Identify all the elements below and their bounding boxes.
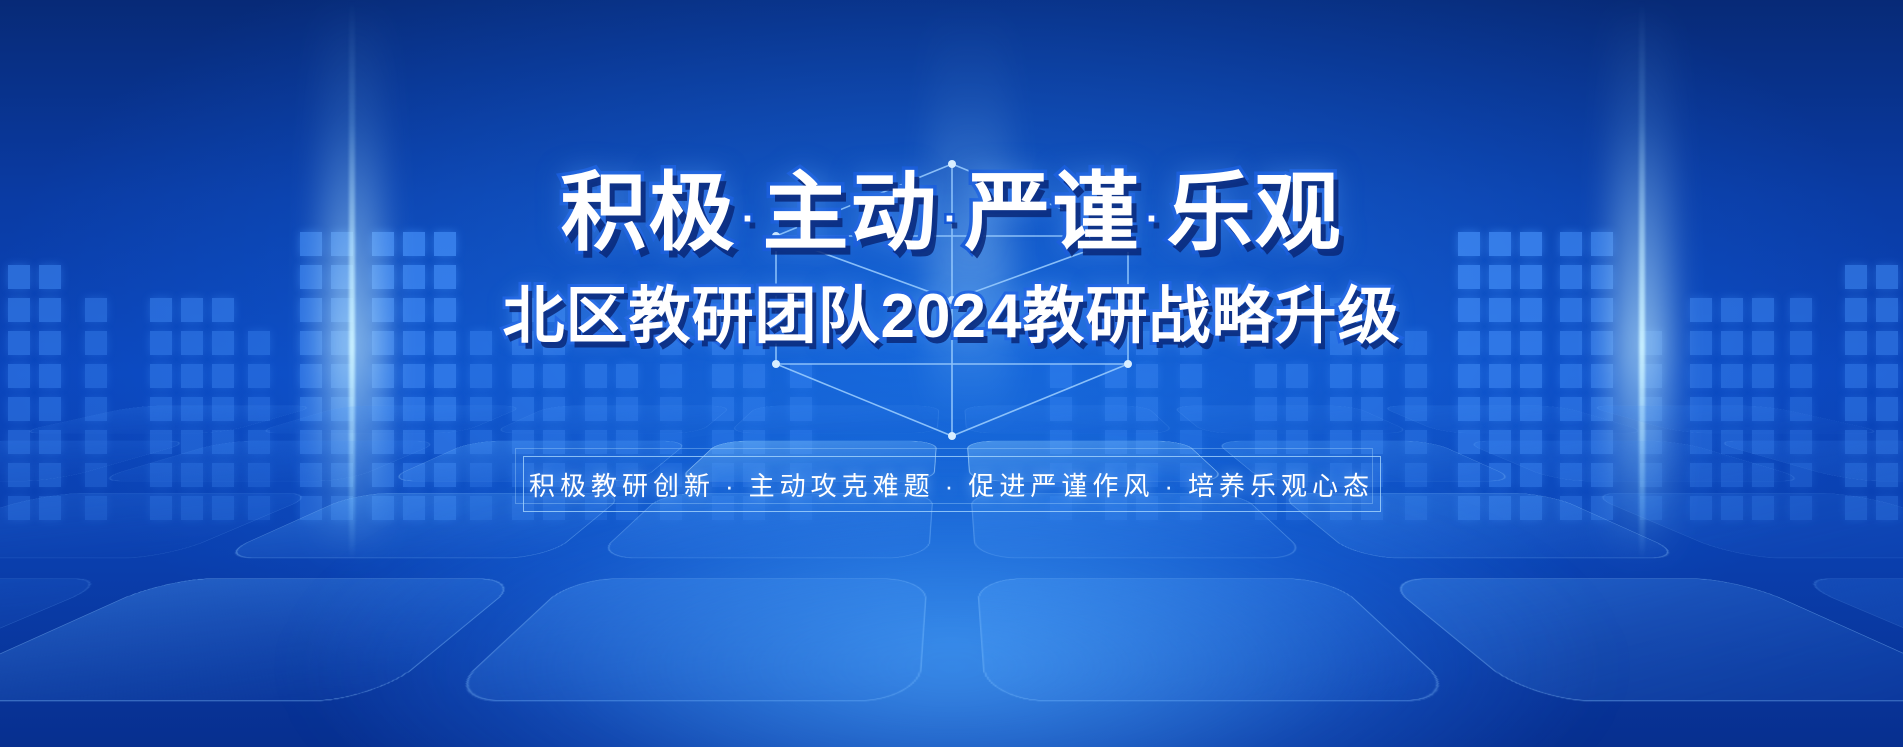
- title-word-2: 主动: [763, 165, 939, 261]
- floor-tile: [1461, 441, 1815, 481]
- title-separator-2: ·: [939, 198, 965, 240]
- event-banner: 积极·主动·严谨·乐观 北区教研团队2024教研战略升级 积极教研创新·主动攻克…: [0, 0, 1903, 747]
- tagline-item-2: 主动攻克难题: [749, 471, 935, 501]
- floor-tile: [1708, 441, 1903, 481]
- headline-block: 积极·主动·严谨·乐观 北区教研团队2024教研战略升级: [0, 168, 1903, 355]
- title-word-4: 乐观: [1167, 165, 1343, 261]
- floor-tile: [1584, 493, 1903, 558]
- title-word-3: 严谨: [965, 165, 1141, 261]
- tagline-separator-1: ·: [715, 471, 749, 501]
- tagline-item-1: 积极教研创新: [529, 471, 715, 501]
- tagline-item-4: 培养乐观心态: [1188, 471, 1374, 501]
- floor-tile: [1584, 406, 1890, 433]
- tagline-box: 积极教研创新·主动攻克难题·促进严谨作风·培养乐观心态: [523, 456, 1381, 512]
- title-separator-1: ·: [737, 198, 763, 240]
- title-word-1: 积极: [561, 165, 737, 261]
- banner-subtitle: 北区教研团队2024教研战略升级: [0, 265, 1903, 355]
- tagline-separator-2: ·: [935, 471, 969, 501]
- banner-title: 积极·主动·严谨·乐观: [0, 168, 1903, 259]
- floor-tile: [1378, 406, 1653, 433]
- title-separator-3: ·: [1141, 198, 1167, 240]
- floor-tile: [1891, 493, 1903, 558]
- floor-tile: [1171, 406, 1414, 433]
- floor-tile: [489, 406, 732, 433]
- floor-tile: [1785, 578, 1903, 701]
- tagline-text: 积极教研创新·主动攻克难题·促进严谨作风·培养乐观心态: [529, 466, 1374, 503]
- tagline-separator-3: ·: [1154, 471, 1188, 501]
- tagline-item-3: 促进严谨作风: [968, 471, 1154, 501]
